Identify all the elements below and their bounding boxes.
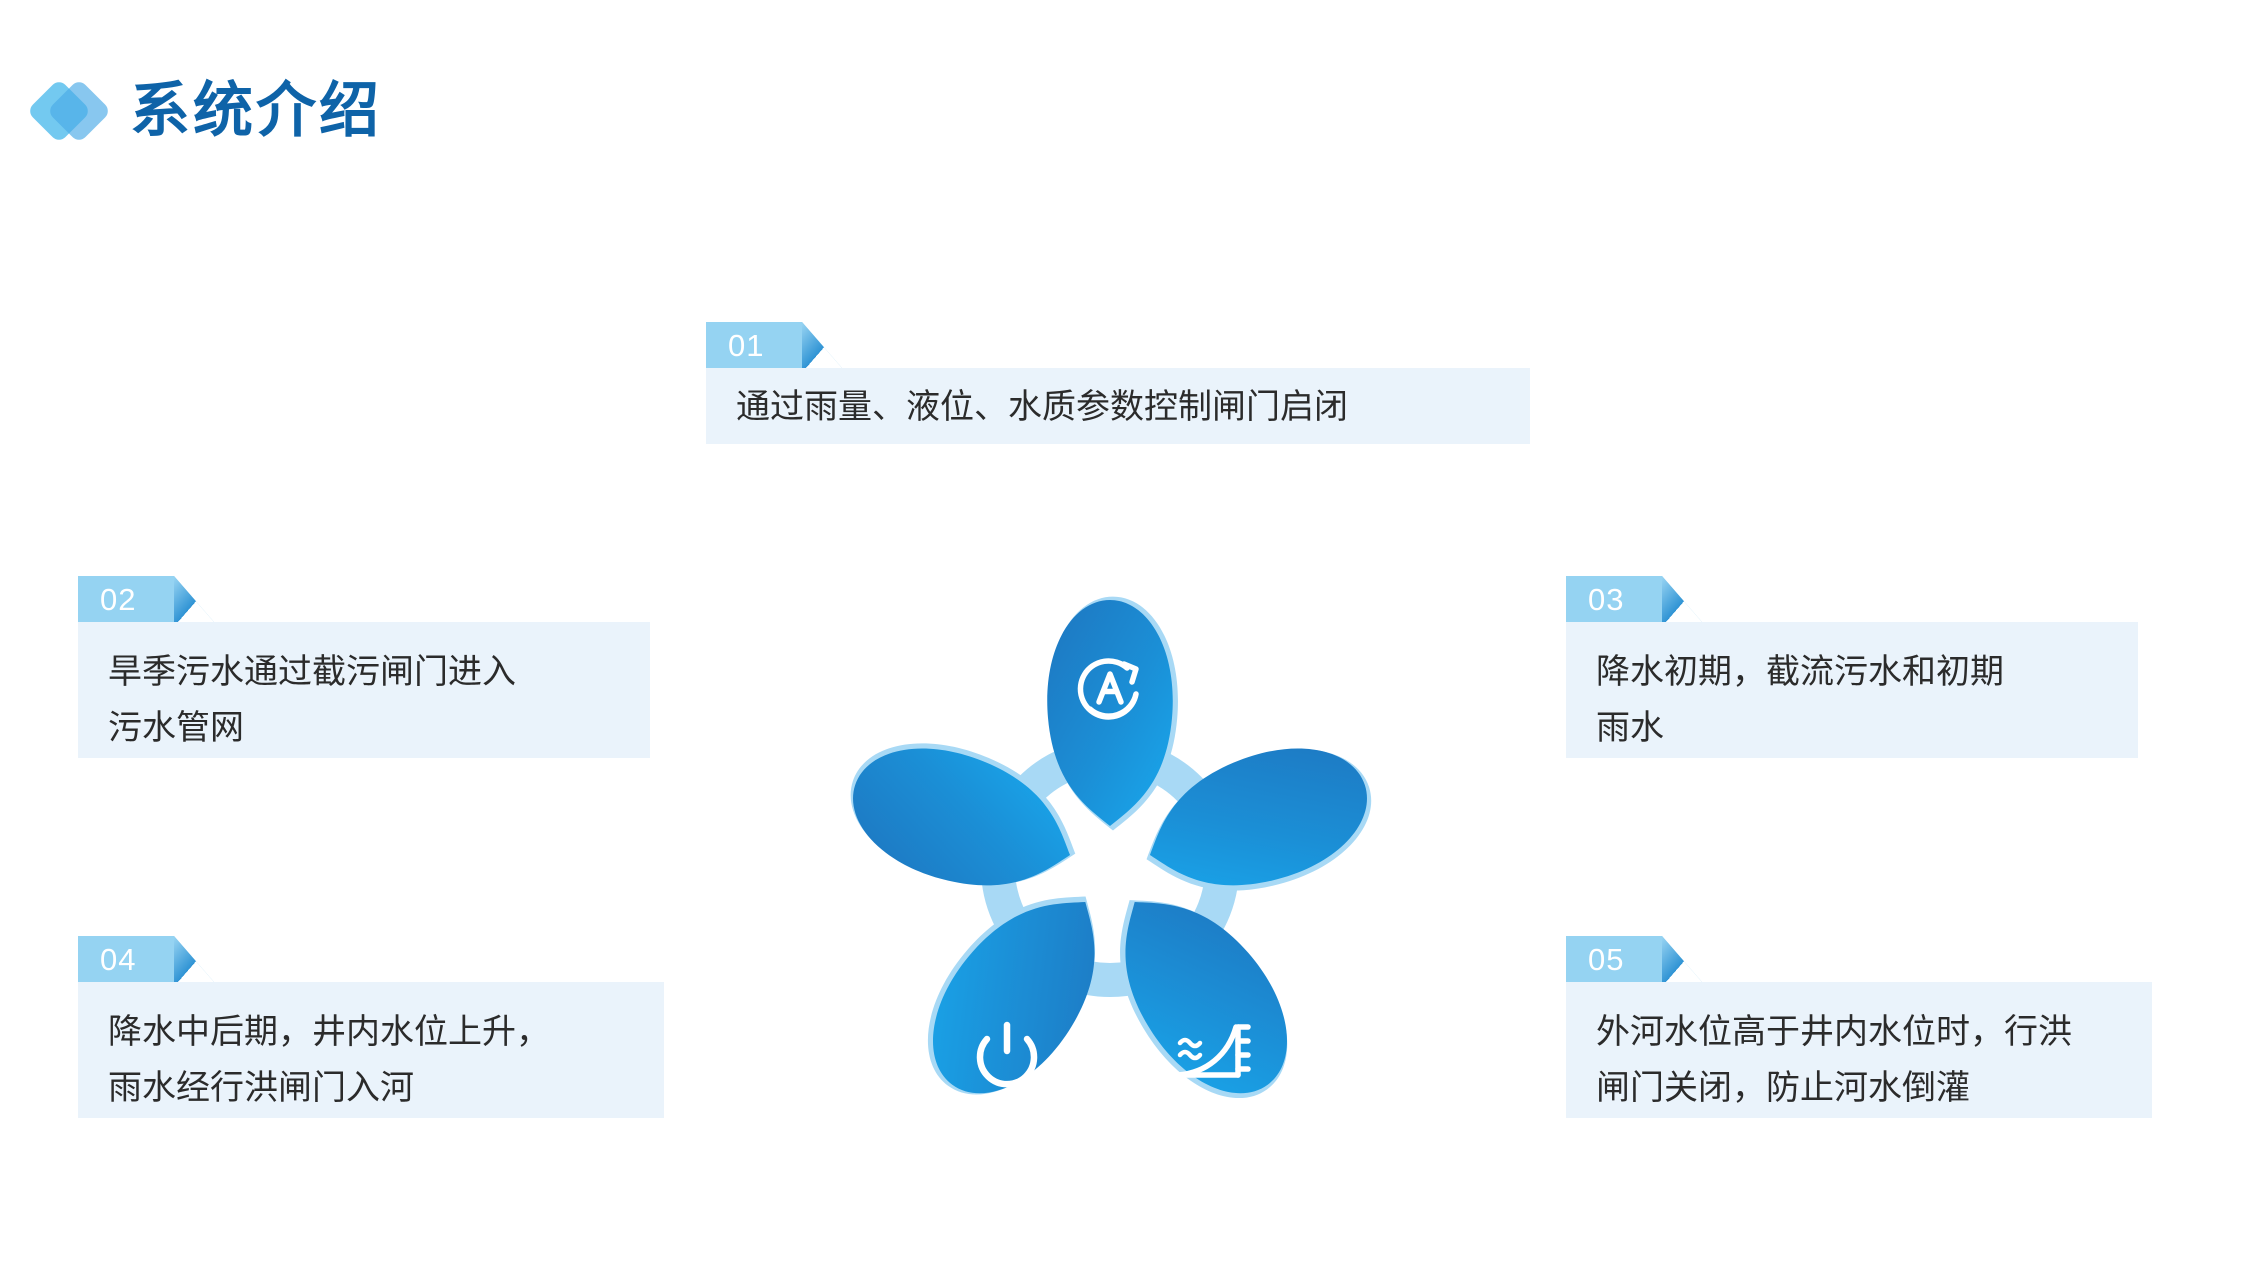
card-text-line: 降水初期，截流污水和初期 (1596, 644, 2108, 700)
card-body-03: 降水初期，截流污水和初期 雨水 (1566, 622, 2138, 758)
card-text-line: 雨水经行洪闸门入河 (108, 1060, 634, 1116)
dam-gate-water-icon (1250, 897, 1308, 949)
info-card-04[interactable]: 04 降水中后期，井内水位上升， 雨水经行洪闸门入河 (78, 936, 664, 1118)
card-body-05: 外河水位高于井内水位时，行洪 闸门关闭，防止河水倒灌 (1566, 982, 2152, 1118)
tab-fold-corner-icon (174, 576, 214, 622)
card-number-tab-01: 01 (706, 322, 802, 368)
card-text-line: 雨水 (1596, 700, 2108, 756)
card-body-02: 旱季污水通过截污闸门进入 污水管网 (78, 622, 650, 758)
info-card-01[interactable]: 01 通过雨量、液位、水质参数控制闸门启闭 (706, 322, 1530, 444)
card-text-line: 污水管网 (108, 700, 620, 756)
card-body-04: 降水中后期，井内水位上升， 雨水经行洪闸门入河 (78, 982, 664, 1118)
pipe-trap-icon (914, 890, 974, 946)
tab-fold-corner-icon (1662, 576, 1702, 622)
info-card-03[interactable]: 03 降水初期，截流污水和初期 雨水 (1566, 576, 2138, 758)
tab-fold-corner-icon (1662, 936, 1702, 982)
card-text-line: 通过雨量、液位、水质参数控制闸门启闭 (736, 384, 1500, 430)
page-header: 系统介绍 (30, 75, 382, 147)
info-card-02[interactable]: 02 旱季污水通过截污闸门进入 污水管网 (78, 576, 650, 758)
card-body-01: 通过雨量、液位、水质参数控制闸门启闭 (706, 368, 1530, 444)
card-number-tab-04: 04 (78, 936, 174, 982)
info-card-05[interactable]: 05 外河水位高于井内水位时，行洪 闸门关闭，防止河水倒灌 (1566, 936, 2152, 1118)
card-number-04: 04 (100, 944, 136, 975)
card-text-line: 降水中后期，井内水位上升， (108, 1004, 634, 1060)
tab-fold-corner-icon (174, 936, 214, 982)
card-number-02: 02 (100, 584, 136, 615)
card-number-05: 05 (1588, 944, 1624, 975)
diamond-mark-icon (30, 75, 122, 147)
card-number-tab-05: 05 (1566, 936, 1662, 982)
page-title: 系统介绍 (130, 81, 382, 141)
slide-root: 系统介绍 01 通过雨量、液位、水质参数控制闸门启闭 02 旱季污水通过截污闸门… (0, 0, 2241, 1271)
card-text-line: 闸门关闭，防止河水倒灌 (1596, 1060, 2122, 1116)
tab-fold-corner-icon (802, 322, 842, 368)
card-text-line: 旱季污水通过截污闸门进入 (108, 644, 620, 700)
card-number-03: 03 (1588, 584, 1624, 615)
card-number-01: 01 (728, 330, 764, 361)
card-number-tab-03: 03 (1566, 576, 1662, 622)
five-petal-flower-diagram (760, 520, 1460, 1180)
card-number-tab-02: 02 (78, 576, 174, 622)
card-text-line: 外河水位高于井内水位时，行洪 (1596, 1004, 2122, 1060)
